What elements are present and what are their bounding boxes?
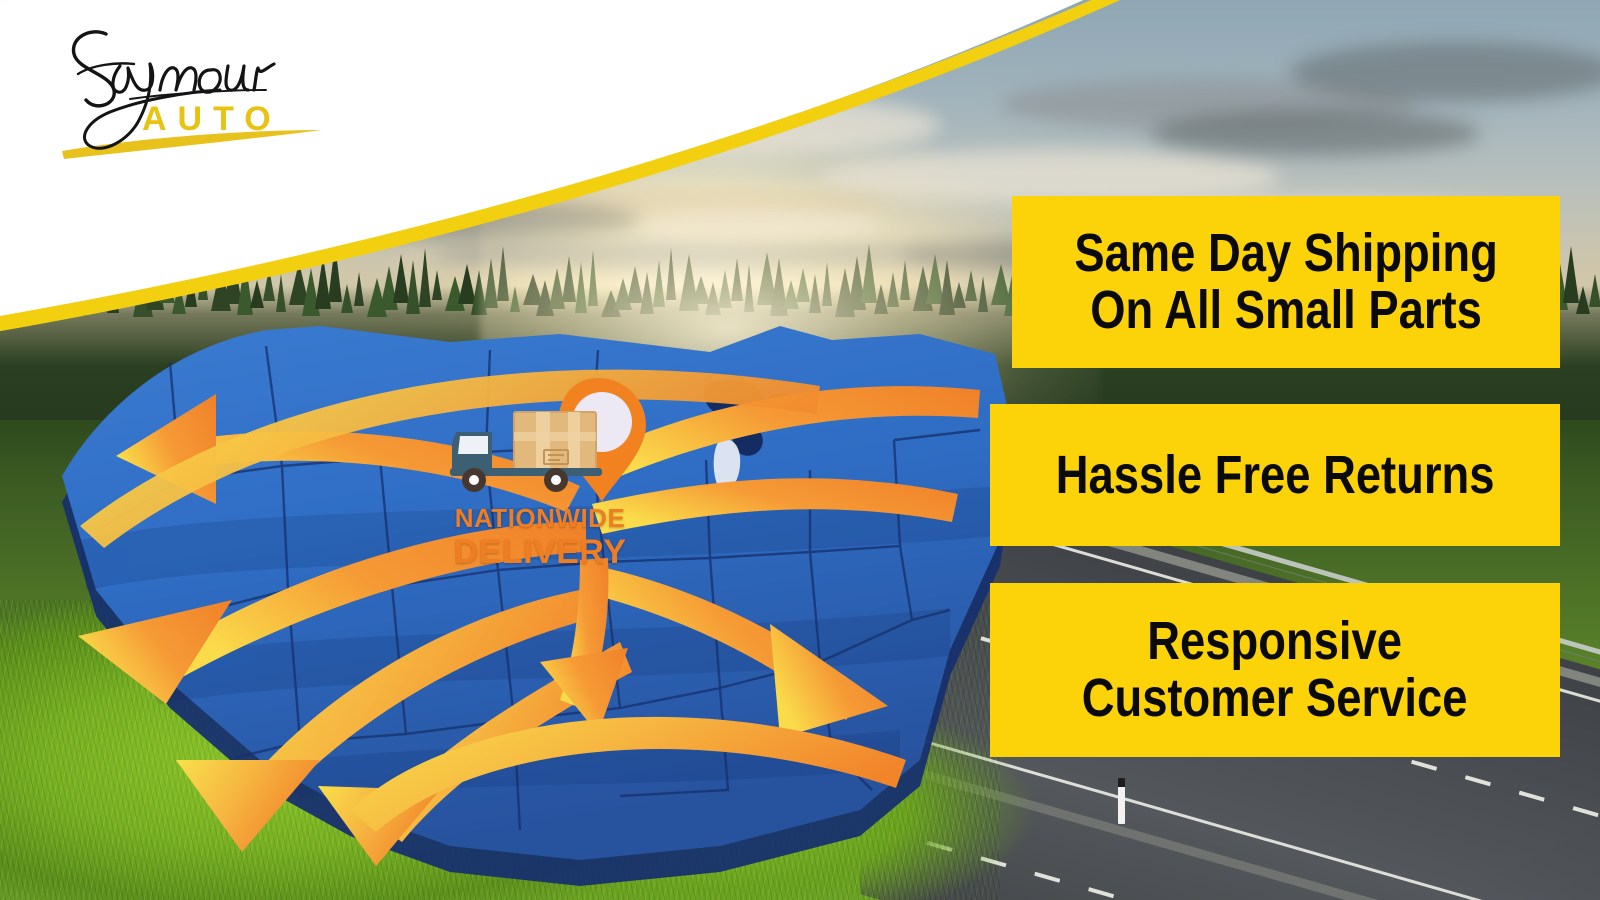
seymour-auto-logo[interactable]: AUTO: [34, 18, 334, 168]
cloud: [1150, 110, 1480, 156]
logo-letter-m: [160, 68, 196, 90]
roadside-marker-post: [1118, 778, 1125, 824]
logo-letters-ey: [113, 64, 153, 92]
cloud: [640, 212, 880, 238]
logo-letter-S: [73, 32, 114, 106]
claim-box-responsive-customer-service[interactable]: Responsive Customer Service: [990, 583, 1560, 757]
claim-text: Responsive Customer Service: [1082, 613, 1468, 726]
promo-banner: AUTO: [0, 0, 1600, 900]
badge-caption: NATIONWIDE DELIVERY: [440, 505, 640, 569]
claim-box-same-day-shipping[interactable]: Same Day Shipping On All Small Parts: [1012, 196, 1560, 368]
delivery-truck-icon: [450, 412, 602, 492]
logo-letter-o: [199, 70, 220, 93]
pine-tree: [1589, 274, 1600, 307]
logo-letter-r: [254, 64, 274, 90]
logo-letter-u: [226, 66, 248, 90]
badge-caption-line2: DELIVERY: [440, 535, 640, 569]
logo-artwork: AUTO: [34, 18, 334, 168]
cloud: [1290, 42, 1600, 102]
logo-S-crossbar: [78, 63, 134, 74]
badge-caption-line1: NATIONWIDE: [440, 505, 640, 531]
pine-tree: [1576, 286, 1590, 314]
claim-text: Hassle Free Returns: [1056, 447, 1495, 504]
logo-auto-word: AUTO: [142, 100, 282, 138]
claim-box-hassle-free-returns[interactable]: Hassle Free Returns: [990, 404, 1560, 546]
nationwide-delivery-badge: NATIONWIDE DELIVERY: [440, 370, 660, 585]
claim-text: Same Day Shipping On All Small Parts: [1074, 225, 1497, 338]
